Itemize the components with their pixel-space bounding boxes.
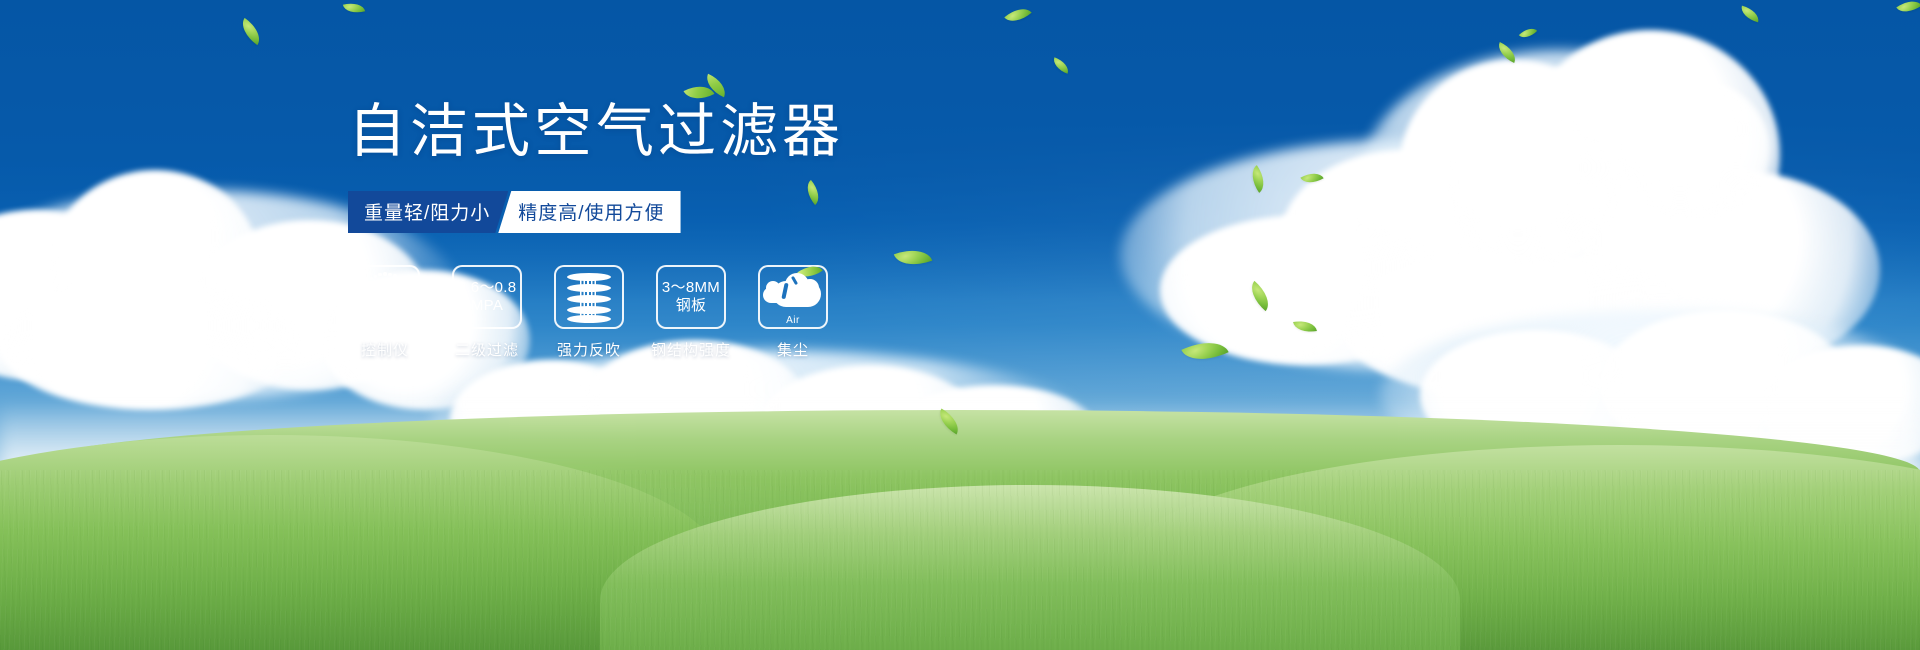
gauge-dot [406,290,410,294]
badge-primary: 重量轻/阻力小 [348,191,508,233]
gauge-dot [394,316,397,319]
leaf-decoration [1181,332,1228,370]
leaf-decoration [1739,6,1761,23]
grass-texture [0,470,1920,650]
gauge-dot [378,273,382,277]
gauge-dot [406,300,410,304]
gauge-dot [401,281,405,285]
feature-text-line1: 3～8MM [662,279,720,297]
feature-text-line1: 0.6～0.8 [458,279,517,297]
gauge-needle [381,281,389,315]
gauge-dot [398,277,402,281]
feature-box: 3～8MM 钢板 [656,265,726,329]
gauge-dot [383,272,387,276]
filter-cartridge-icon [567,272,611,322]
feature-item-blowback: 强力反吹 [552,265,626,360]
feature-box: NO OFF [350,265,420,329]
feature-label: 控制仪 [361,339,409,360]
leaf-decoration [343,0,365,16]
gauge-dot [375,317,378,320]
badge-row: 重量轻/阻力小 精度高/使用方便 [348,191,670,233]
banner-stage: 自洁式空气过滤器 重量轻/阻力小 精度高/使用方便 NO OFF 控制仪 [0,0,1920,650]
grass-hill-right [1120,445,1920,650]
gauge-dot [380,318,383,321]
leaf-decoration [1896,0,1920,18]
feature-item-dust: Air 集尘 [756,265,830,360]
feature-label: 钢结构强度 [651,339,731,360]
horizon-haze [0,400,1920,550]
gauge-dot [393,274,397,278]
coil-ring [567,273,611,281]
gauge-dot [402,309,406,313]
air-label: Air [763,315,823,326]
gauge-dot [406,295,410,299]
leaf-decoration [1245,165,1270,193]
leaf-decoration [1004,2,1031,28]
leaf-decoration [1293,318,1317,335]
gauge-dot [388,273,392,277]
page-title: 自洁式空气过滤器 [348,100,844,165]
gauge-dot [366,281,369,284]
gauge-dot [390,318,393,321]
feature-text-block: 0.6～0.8 MPA [458,279,517,315]
gauge-dot [363,285,366,288]
leaf-decoration [236,18,266,45]
coil-ring [567,295,611,303]
coil-ring [567,306,611,314]
cloud-bump [801,279,819,297]
feature-item-control: NO OFF 控制仪 [348,265,422,360]
leaf-icon [702,74,730,97]
leaf-decoration [934,409,964,435]
cloud-cluster-right [1100,20,1880,420]
leaf-decoration [1494,42,1519,63]
leaf-decoration [1051,57,1072,73]
grass-hill-left [0,435,720,650]
feature-item-pressure: 0.6～0.8 MPA 二级过滤 [450,265,524,360]
feature-text-block: 3～8MM 钢板 [662,279,720,315]
feature-box: Air [758,265,828,329]
leaf-decoration [1300,168,1323,188]
cloud-air-icon: Air [763,271,823,323]
coil-ring [567,284,611,292]
feature-item-steel: 3～8MM 钢板 钢结构强度 [654,265,728,360]
gauge-dot [404,285,408,289]
grass-hill-center [600,485,1460,650]
gauge-icon: NO OFF [356,272,414,322]
gauge-label-no: NO [355,301,364,307]
leaf-decoration [1519,24,1537,42]
title-wrapper: 自洁式空气过滤器 [348,100,844,165]
feature-label: 二级过滤 [455,339,519,360]
feature-box [554,265,624,329]
gauge-dot [361,290,364,293]
cloud-small-bump [766,281,780,295]
feature-label: 强力反吹 [557,339,621,360]
badge-secondary: 精度高/使用方便 [498,191,680,233]
feature-text-line2: MPA [458,297,517,315]
gauge-dot [370,277,373,280]
gauge-dot [385,318,388,321]
feature-box: 0.6～0.8 MPA [452,265,522,329]
feature-text-line2: 钢板 [662,297,720,315]
feature-row: NO OFF 控制仪 0.6～0.8 MPA 二级过滤 [348,265,1048,360]
cloud-cluster-far-right [1380,300,1920,480]
gauge-label-off: OFF [402,315,414,321]
gauge-dot [374,275,377,278]
feature-label: 集尘 [777,339,809,360]
gauge-dot [404,305,408,309]
coil-ring [567,315,611,323]
banner-content: 自洁式空气过滤器 重量轻/阻力小 精度高/使用方便 NO OFF 控制仪 [348,100,1048,360]
grass-field [0,410,1920,650]
leaf-decoration [1244,281,1276,311]
gauge-dot [370,314,373,317]
